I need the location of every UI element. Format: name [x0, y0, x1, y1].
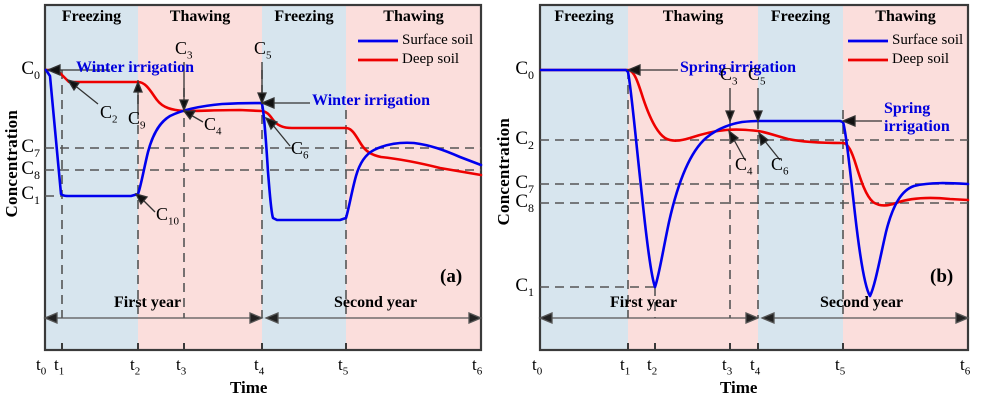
panel-a: Concentration C0 C7 C8 C1 t0 t1 t2 t3 t4…: [0, 0, 490, 401]
year-label-second-a: Second year: [334, 294, 417, 312]
legend-label-deep-soil-a: Deep soil: [402, 51, 459, 68]
x-tick-t3-a: t3: [176, 355, 186, 377]
band-label-freezing-1-b: Freezing: [540, 8, 628, 26]
legend-label-surface-soil-a: Surface soil: [402, 32, 473, 49]
point-annotation-c9-a: C9: [128, 108, 146, 132]
band-label-thawing-1-a: Thawing: [138, 8, 262, 26]
band-label-freezing-2-a: Freezing: [262, 8, 346, 26]
y-tick-c8-a: C8: [6, 158, 40, 183]
y-tick-c0-a: C0: [6, 58, 40, 83]
point-annotation-c4-b: C4: [735, 154, 753, 178]
point-annotation-c3-a: C3: [175, 38, 193, 62]
figure-root: Concentration C0 C7 C8 C1 t0 t1 t2 t3 t4…: [0, 0, 981, 401]
legend-label-surface-soil-b: Surface soil: [892, 32, 963, 49]
x-tick-t2-b: t2: [647, 355, 657, 377]
point-annotation-c5-a: C5: [254, 38, 272, 62]
x-tick-t5-a: t5: [338, 355, 348, 377]
year-label-first-a: First year: [114, 294, 181, 312]
x-tick-t6-a: t6: [472, 355, 482, 377]
point-annotation-c4-a: C4: [204, 114, 222, 138]
point-annotation-c6-b: C6: [771, 154, 789, 178]
point-annotation-c6-a: C6: [291, 138, 309, 162]
irrigation-annotation-1-b: Spring irrigation: [680, 59, 796, 77]
y-tick-c0-b: C0: [500, 58, 534, 83]
x-axis-title-a: Time: [230, 378, 267, 398]
y-tick-c1-b: C1: [500, 275, 534, 300]
x-tick-t3-b: t3: [722, 355, 732, 377]
band-label-thawing-1-b: Thawing: [628, 8, 758, 26]
panel-b: Concentration C0 C2 C7 C8 C1 t0 t1 t2 t3…: [490, 0, 981, 401]
y-tick-c2-b: C2: [500, 128, 534, 153]
x-axis-title-b: Time: [720, 378, 757, 398]
x-tick-t5-b: t5: [835, 355, 845, 377]
year-label-second-b: Second year: [820, 294, 903, 312]
point-annotation-c2-a: C2: [100, 102, 118, 126]
x-tick-t4-b: t4: [750, 355, 760, 377]
x-tick-t2-a: t2: [130, 355, 140, 377]
x-tick-t1-a: t1: [54, 355, 64, 377]
panel-tag-a: (a): [440, 266, 462, 288]
year-label-first-b: First year: [610, 294, 677, 312]
band-label-thawing-2-a: Thawing: [346, 8, 481, 26]
x-tick-t0-b: t0: [532, 355, 542, 377]
point-annotation-c5-b: C5: [748, 64, 766, 88]
band-label-freezing-2-b: Freezing: [758, 8, 843, 26]
point-annotation-c3-b: C3: [720, 64, 738, 88]
irrigation-annotation-1-a: Winter irrigation: [76, 59, 194, 77]
irrigation-annotation-2-a: Winter irrigation: [312, 92, 430, 110]
x-tick-t4-a: t4: [254, 355, 264, 377]
irrigation-annotation-2-b: Spring irrigation: [884, 100, 981, 137]
x-tick-t6-b: t6: [960, 355, 970, 377]
legend-label-deep-soil-b: Deep soil: [892, 51, 949, 68]
band-label-freezing-1-a: Freezing: [45, 8, 138, 26]
y-tick-c1-a: C1: [6, 183, 40, 208]
x-tick-t0-a: t0: [36, 355, 46, 377]
point-annotation-c10-a: C10: [156, 204, 179, 228]
band-label-thawing-2-b: Thawing: [843, 8, 968, 26]
y-tick-c8-b: C8: [500, 191, 534, 216]
panel-tag-b: (b): [930, 266, 953, 288]
x-tick-t1-b: t1: [620, 355, 630, 377]
